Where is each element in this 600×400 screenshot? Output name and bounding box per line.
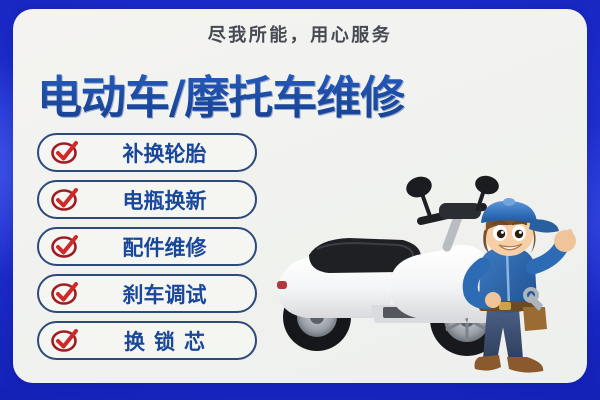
circle-check-icon bbox=[51, 139, 78, 166]
mechanic-illustration bbox=[453, 205, 581, 383]
service-pill-2[interactable]: 电瓶换新 bbox=[37, 180, 257, 219]
service-label: 补换轮胎 bbox=[82, 138, 255, 168]
service-pill-3[interactable]: 配件维修 bbox=[37, 227, 257, 266]
circle-check-icon bbox=[51, 327, 78, 354]
tagline: 尽我所能，用心服务 bbox=[13, 21, 587, 47]
service-pill-4[interactable]: 刹车调试 bbox=[37, 274, 257, 313]
circle-check-icon bbox=[51, 280, 78, 307]
circle-check-icon bbox=[51, 233, 78, 260]
service-label: 刹车调试 bbox=[82, 279, 255, 309]
service-label: 配件维修 bbox=[82, 232, 255, 262]
service-label: 电瓶换新 bbox=[82, 185, 255, 215]
service-pill-5[interactable]: 换锁芯 bbox=[37, 321, 257, 360]
circle-check-icon bbox=[51, 186, 78, 213]
page-title: 电动车/摩托车维修 bbox=[37, 61, 404, 126]
service-pill-1[interactable]: 补换轮胎 bbox=[37, 133, 257, 172]
poster-root: 尽我所能，用心服务 电动车/摩托车维修 bbox=[0, 0, 600, 400]
service-label: 换锁芯 bbox=[82, 326, 255, 356]
poster-panel: 尽我所能，用心服务 电动车/摩托车维修 bbox=[13, 9, 587, 383]
service-list: 补换轮胎 电瓶换新 配件维修 刹车调试 bbox=[37, 133, 257, 360]
